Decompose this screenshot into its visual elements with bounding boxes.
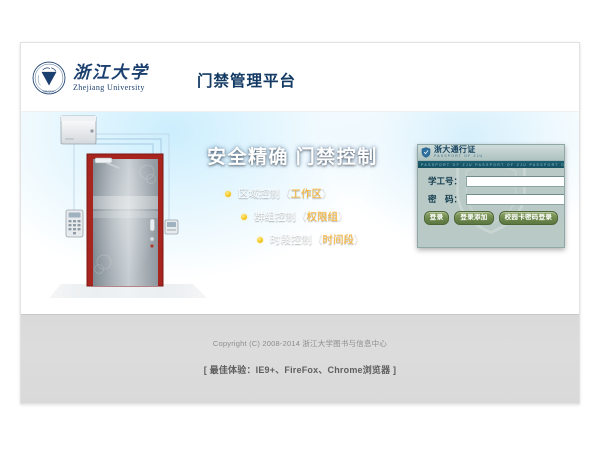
hero-feature-tail-3: ）	[354, 232, 365, 247]
site-card: ZHEJIANG 浙江大学 Zhejiang University 门禁管理平台	[20, 42, 580, 404]
hero-feature-item-1: 区域控制（工作区）	[225, 186, 422, 201]
page-root: ZHEJIANG 浙江大学 Zhejiang University 门禁管理平台	[0, 0, 600, 450]
hero-feature-item-3: 时段控制（时间段）	[257, 232, 422, 247]
logo-chinese-name: 浙江大学	[73, 64, 149, 81]
login-panel-title-text: 浙大通行证 PASSPORT OF ZJU	[434, 146, 483, 159]
bullet-dot-icon	[225, 191, 231, 197]
site-logo[interactable]: ZHEJIANG 浙江大学 Zhejiang University	[32, 57, 149, 99]
bullet-dot-icon	[257, 237, 263, 243]
login-panel-strip-text: PASSPORT OF ZJU PASSPORT OF ZJU PASSPORT…	[418, 163, 564, 167]
username-input[interactable]	[466, 176, 565, 187]
login-button[interactable]: 登录	[424, 211, 450, 225]
login-row-username: 学工号：	[426, 175, 556, 187]
login-panel-strip: PASSPORT OF ZJU PASSPORT OF ZJU PASSPORT…	[418, 161, 564, 168]
logo-wordmark: 浙江大学 Zhejiang University	[73, 64, 149, 92]
svg-text:ZHEJIANG: ZHEJIANG	[42, 90, 55, 93]
site-footer: Copyright (C) 2008-2014 浙江大学图书与信息中心 [ 最佳…	[21, 314, 579, 404]
login-panel-title-cn: 浙大通行证	[434, 146, 483, 154]
access-control-door-illustration	[47, 112, 207, 314]
hero-feature-text-3: 时段控制（	[270, 232, 323, 247]
page-title: 门禁管理平台	[197, 69, 296, 91]
logo-english-name: Zhejiang University	[73, 84, 149, 92]
hero-feature-item-2: 群组控制（权限组）	[241, 209, 422, 224]
login-panel-titlebar: 浙大通行证 PASSPORT OF ZJU	[418, 145, 564, 161]
hero-feature-list: 区域控制（工作区） 群组控制（权限组） 时段控制（时间段）	[207, 186, 422, 247]
password-input[interactable]	[466, 194, 565, 205]
hero-feature-text-2: 群组控制（	[254, 209, 307, 224]
hero-banner: 安全精确 门禁控制 区域控制（工作区） 群组控制（权限组） 时段控制（时间段）	[21, 112, 579, 314]
password-label: 密 码：	[426, 193, 466, 205]
keypad-reader	[66, 210, 83, 237]
site-header: ZHEJIANG 浙江大学 Zhejiang University 门禁管理平台	[21, 43, 579, 112]
hero-copy: 安全精确 门禁控制 区域控制（工作区） 群组控制（权限组） 时段控制（时间段）	[207, 142, 422, 255]
hero-feature-tail-1: ）	[322, 186, 333, 201]
hero-headline: 安全精确 门禁控制	[207, 142, 422, 169]
footer-browser-note: [ 最佳体验：IE9+、FireFox、Chrome浏览器 ]	[21, 363, 579, 376]
card-reader	[165, 220, 178, 234]
footer-copyright: Copyright (C) 2008-2014 浙江大学图书与信息中心	[21, 338, 579, 349]
shield-icon	[421, 147, 431, 158]
login-row-password: 密 码：	[426, 193, 556, 205]
bullet-dot-icon	[241, 214, 247, 220]
login-button-row: 登录 登录添加 校园卡密码登录	[426, 211, 556, 225]
hero-feature-text-1: 区域控制（	[238, 186, 291, 201]
login-panel-title-en: PASSPORT OF ZJU	[434, 155, 483, 159]
login-panel: 浙大通行证 PASSPORT OF ZJU PASSPORT OF ZJU PA…	[417, 144, 565, 248]
controller-box	[61, 116, 96, 144]
login-add-button[interactable]: 登录添加	[454, 211, 493, 225]
hero-feature-accent-1: 工作区	[291, 186, 323, 201]
campus-card-login-button[interactable]: 校园卡密码登录	[499, 211, 559, 225]
hero-feature-accent-3: 时间段	[323, 232, 355, 247]
login-form: 学工号： 密 码： 登录 登录添加 校园卡密码登录	[418, 168, 564, 225]
hero-feature-tail-2: ）	[338, 209, 349, 224]
hero-feature-accent-2: 权限组	[307, 209, 339, 224]
username-label: 学工号：	[426, 175, 466, 187]
zju-seal-icon: ZHEJIANG	[32, 61, 66, 95]
